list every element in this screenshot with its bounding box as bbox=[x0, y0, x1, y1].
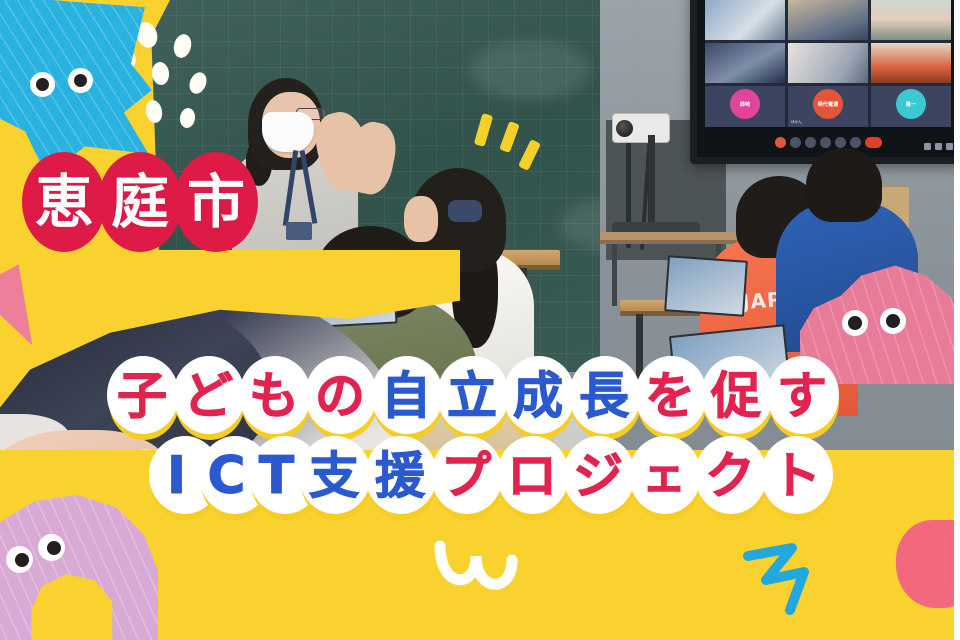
side-table bbox=[600, 232, 740, 244]
title-char: も bbox=[238, 352, 310, 440]
title-char: 長 bbox=[568, 352, 640, 440]
participant-avatar: 明代電源 bbox=[813, 89, 843, 119]
title-char: ジ bbox=[562, 432, 634, 520]
title-char: ト bbox=[760, 432, 832, 520]
title-char: C bbox=[198, 432, 254, 520]
video-call-screen[interactable]: 師崎 明代電源 ほかん 陽一 bbox=[690, 0, 960, 164]
title-line-2: I C T 支 援 プ ロ ジ ェ ク ト bbox=[0, 432, 960, 520]
title-line-1: 子 ど も の 自 立 成 長 を 促 す bbox=[0, 352, 960, 440]
title-char: 子 bbox=[106, 352, 178, 440]
title-char: T bbox=[248, 432, 304, 520]
white-squiggle-decoration bbox=[430, 540, 550, 620]
hair-tie bbox=[448, 200, 482, 222]
student-laptop bbox=[664, 255, 748, 316]
main-title: 子 ど も の 自 立 成 長 を 促 す I C T 支 援 プ ロ ジ ェ … bbox=[0, 352, 960, 520]
fullscreen-icon[interactable] bbox=[946, 143, 953, 150]
document-camera-arm bbox=[648, 135, 655, 230]
microphone-icon[interactable] bbox=[775, 137, 786, 148]
title-char: 自 bbox=[370, 352, 442, 440]
title-char: す bbox=[766, 352, 838, 440]
city-badge-char: 庭 bbox=[96, 152, 184, 252]
video-tile-avatar[interactable]: 師崎 bbox=[705, 86, 785, 127]
video-tile-avatar[interactable]: 陽一 bbox=[871, 86, 951, 127]
video-tile[interactable] bbox=[871, 0, 951, 40]
title-char: 援 bbox=[364, 432, 436, 520]
mascot-eye bbox=[880, 308, 906, 334]
city-badge: 恵 庭 市 bbox=[20, 152, 260, 252]
video-tile-avatar[interactable]: 明代電源 ほかん bbox=[788, 86, 868, 127]
city-badge-char-text: 市 bbox=[187, 173, 245, 231]
student-hand bbox=[404, 196, 438, 242]
settings-icon[interactable] bbox=[924, 143, 931, 150]
camera-icon[interactable] bbox=[790, 137, 801, 148]
title-char: 立 bbox=[436, 352, 508, 440]
share-screen-icon[interactable] bbox=[835, 137, 846, 148]
document-camera-lens bbox=[616, 120, 633, 137]
layout-icon[interactable] bbox=[935, 143, 942, 150]
mascot-eye bbox=[38, 534, 65, 561]
video-tile[interactable] bbox=[788, 43, 868, 84]
video-tile[interactable] bbox=[705, 43, 785, 84]
video-call-toolbar bbox=[697, 131, 959, 153]
mascot-eye bbox=[30, 72, 55, 97]
side-table-leg bbox=[612, 244, 617, 306]
title-char: 促 bbox=[700, 352, 772, 440]
city-badge-char-text: 庭 bbox=[111, 173, 169, 231]
mascot-eye bbox=[68, 68, 93, 93]
right-margin bbox=[954, 0, 960, 640]
title-char: 支 bbox=[298, 432, 370, 520]
participants-icon[interactable] bbox=[805, 137, 816, 148]
blue-zigzag-decoration bbox=[742, 540, 852, 620]
title-char: ロ bbox=[496, 432, 568, 520]
title-char: を bbox=[634, 352, 706, 440]
title-char: ど bbox=[172, 352, 244, 440]
video-tile[interactable] bbox=[871, 43, 951, 84]
video-call-grid: 師崎 明代電源 ほかん 陽一 bbox=[705, 0, 951, 127]
video-call-right-icons bbox=[924, 143, 953, 150]
banner-root: 師崎 明代電源 ほかん 陽一 bbox=[0, 0, 960, 640]
end-call-icon[interactable] bbox=[865, 137, 882, 148]
title-char: I bbox=[148, 432, 204, 520]
city-badge-char: 市 bbox=[172, 152, 260, 252]
mascot-eye bbox=[6, 546, 33, 573]
participant-name: ほかん bbox=[791, 120, 802, 125]
title-char: 成 bbox=[502, 352, 574, 440]
title-char: プ bbox=[430, 432, 502, 520]
more-options-icon[interactable] bbox=[850, 137, 861, 148]
student-hair bbox=[806, 148, 882, 222]
participant-avatar: 師崎 bbox=[730, 89, 760, 119]
face-mask bbox=[262, 112, 314, 152]
mascot-eye bbox=[842, 310, 868, 336]
id-badge bbox=[286, 222, 312, 240]
title-char: ェ bbox=[628, 432, 700, 520]
city-badge-char-text: 恵 bbox=[35, 173, 93, 231]
participant-avatar: 陽一 bbox=[896, 89, 926, 119]
video-tile[interactable] bbox=[705, 0, 785, 40]
video-tile[interactable] bbox=[788, 0, 868, 40]
chalk-smudge bbox=[470, 40, 590, 100]
title-char: ク bbox=[694, 432, 766, 520]
title-char: の bbox=[304, 352, 376, 440]
city-badge-char: 恵 bbox=[20, 152, 108, 252]
chat-icon[interactable] bbox=[820, 137, 831, 148]
